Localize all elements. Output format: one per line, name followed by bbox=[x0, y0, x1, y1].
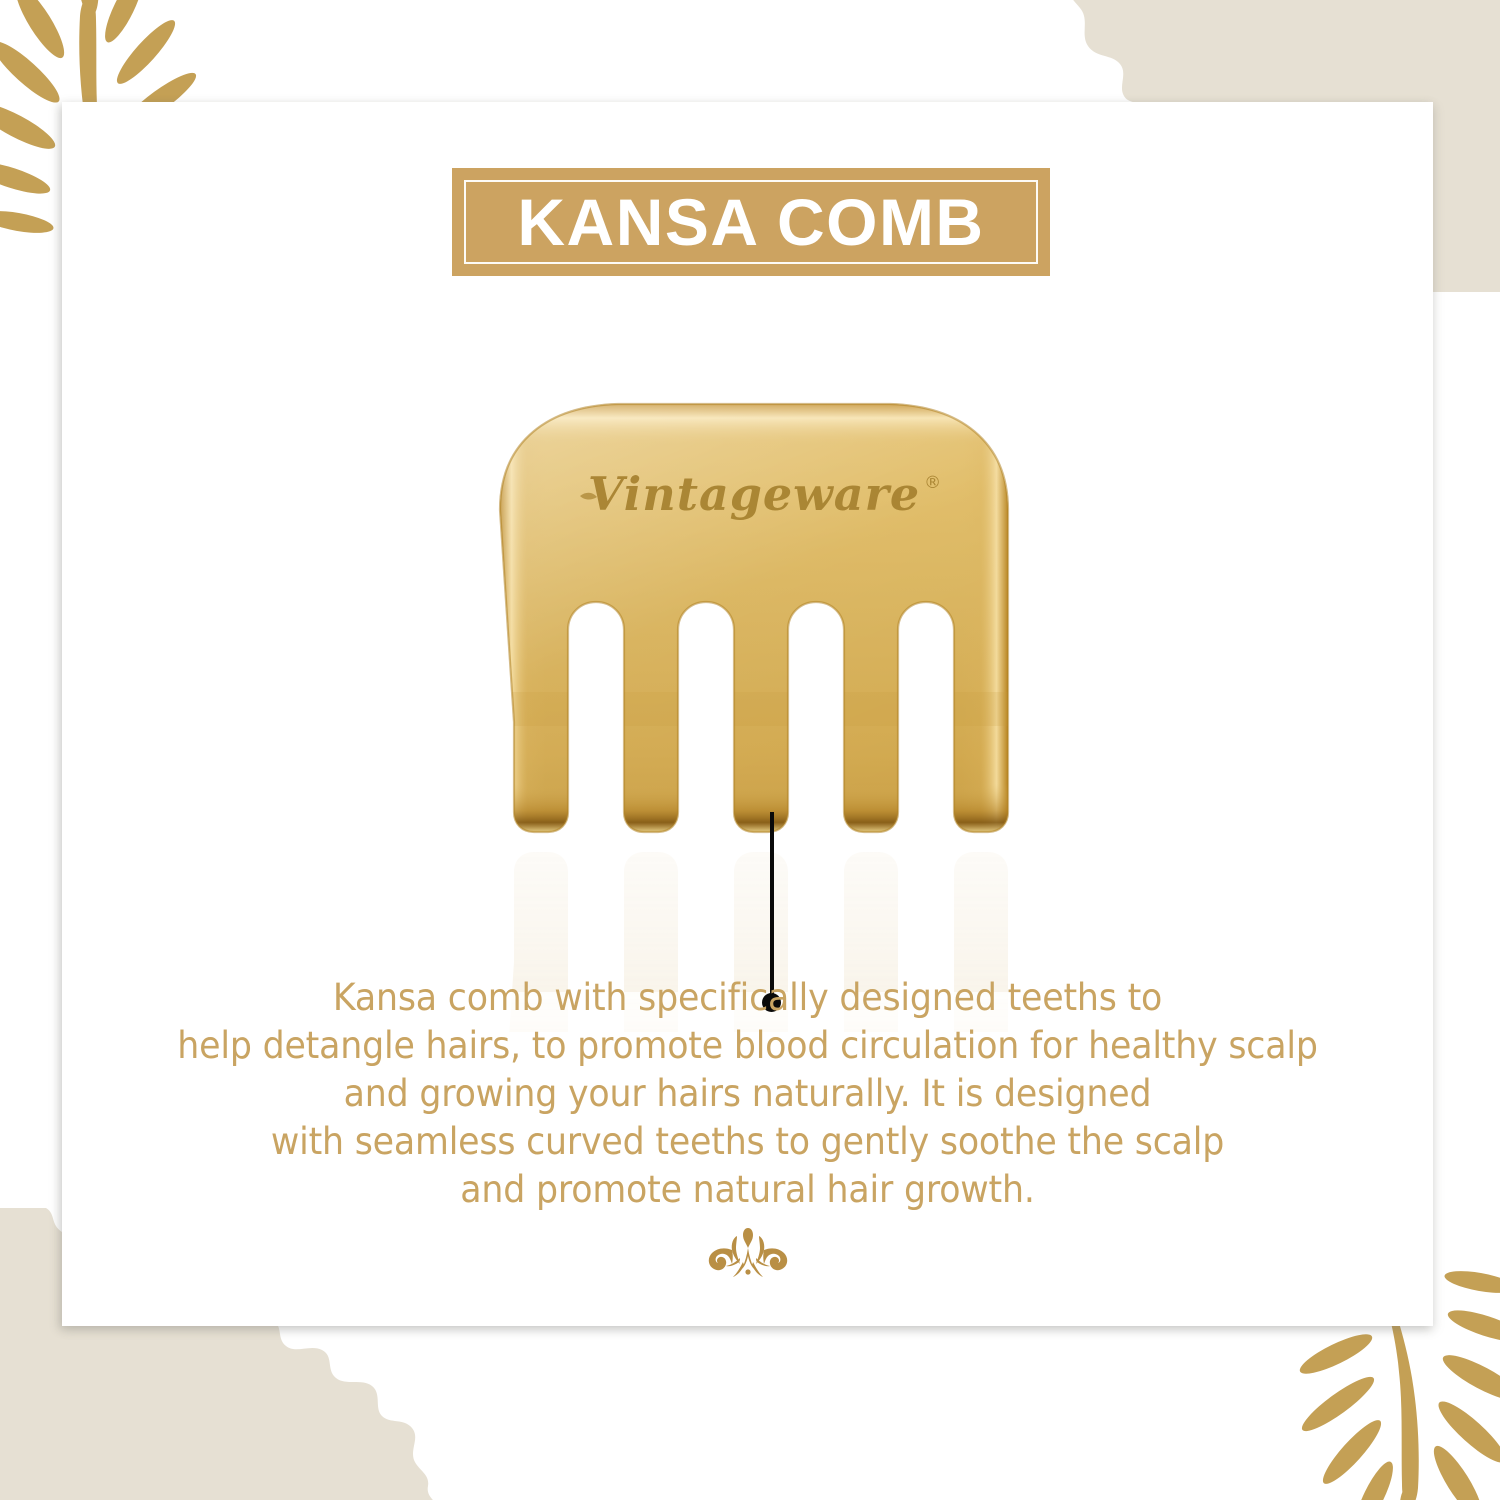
product-card: KANSA COMB bbox=[62, 102, 1433, 1326]
description-line: and growing your hairs naturally. It is … bbox=[160, 1070, 1336, 1118]
page-title: KANSA COMB bbox=[517, 189, 984, 255]
poster-canvas: KANSA COMB bbox=[0, 0, 1500, 1500]
flourish-ornament-icon bbox=[688, 1224, 808, 1286]
description-line: and promote natural hair growth. bbox=[160, 1166, 1336, 1214]
product-description: Kansa comb with specifically designed te… bbox=[160, 974, 1336, 1214]
product-image: Vintageware ® bbox=[382, 392, 1122, 1032]
svg-text:Vintageware: Vintageware bbox=[588, 467, 920, 521]
description-line: help detangle hairs, to promote blood ci… bbox=[160, 1022, 1336, 1070]
brand-engraving: Vintageware ® bbox=[580, 467, 941, 521]
description-line: with seamless curved teeths to gently so… bbox=[160, 1118, 1336, 1166]
kansa-comb-illustration: Vintageware ® bbox=[382, 392, 1122, 1032]
title-banner: KANSA COMB bbox=[452, 168, 1050, 276]
description-line: Kansa comb with specifically designed te… bbox=[160, 974, 1336, 1022]
svg-text:®: ® bbox=[924, 473, 941, 493]
